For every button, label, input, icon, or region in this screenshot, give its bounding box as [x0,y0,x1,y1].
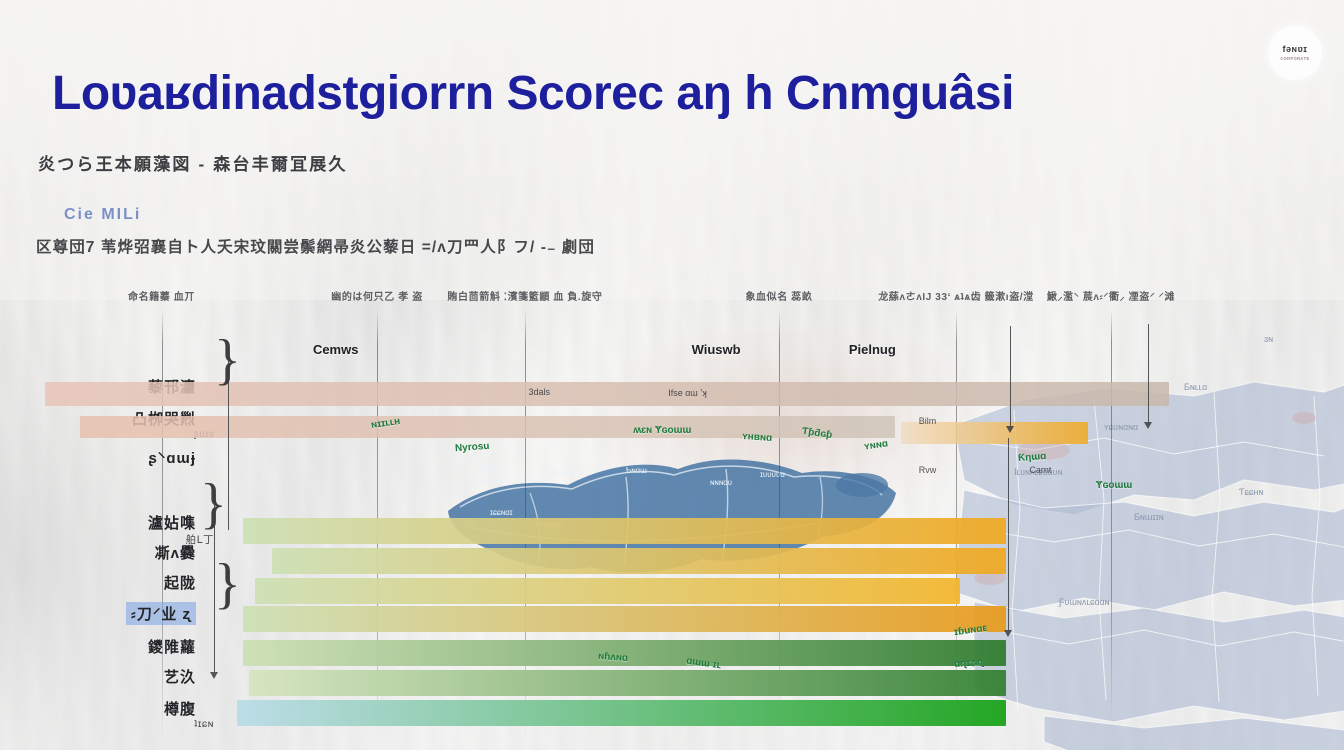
chart-annotation-3: Bilm [919,416,937,426]
green-marker-11: ɑɳɪʑɳ [953,657,983,670]
green-marker-1: Nyrosu [455,441,490,454]
chart-annotation-6: 3dals [528,387,550,397]
column-header-1: 幽的は何只乙 孝 盗 [331,288,423,303]
bar-row-4[interactable] [272,548,1006,574]
row-label-7: 鑁陮蘿 [148,636,196,657]
chart-annotation-2: Pielnug [849,342,896,357]
row-label-4: 凘ʌ爨 [155,542,196,563]
infographic-root: ƂɴʟʟɑʏɕʋɴɑɴɑʇʟʋɴʌʟɕɑɑʋɴƂɴɯɪɪɴƬɕɕʜɴƑʋɯɴʌʟ… [0,0,1344,750]
leader-line-bottom [214,492,215,672]
leader-line-right-top [1010,326,1011,426]
gridline-5 [1111,310,1112,720]
row-label-8: 艺汣 [164,666,196,687]
chart-annotation-0: Cemws [313,342,359,357]
page-title: Loʋaʁdinadstgiorrn Scorec aŋ h Cnmguâsi [52,66,1014,121]
chart-annotation-5: Carnt [1029,465,1051,475]
subtitle-line-2: Cie MILi [38,206,141,224]
column-header-3: 象血似名 蕊畝 [745,288,812,303]
subtitle-accent: Cie MILi [38,206,141,223]
subtitle-line-3: 区尊団7 苇烨弨襄自ト人夭宋玟關尝鬃網帚炎公藜日 =/ʌ⼑⺫人阝フ/ -₋ 劇団 [36,235,595,257]
green-marker-7: Ɏɢoɯɯ [1096,480,1132,491]
green-marker-8: ɴɦʌɴɑ [598,651,629,664]
bar-row-5[interactable] [255,578,960,604]
leader-line-top [228,350,229,530]
row-label-6: ⸗刀⸍业 ʐ [126,602,196,625]
green-marker-2: ʍɛɴ Ɏɢoɯɯ [633,425,691,436]
badge-secondary-text: ᴄᴏʀᴘᴏʀᴀᴛᴇ [1280,56,1309,62]
leader-line-far-right [1148,324,1149,422]
column-header-5: 鰍⸝濫⸌ 莀ʌ⸗⸍衢⸝ 凐盗⸍ ⸍滩 [1047,288,1175,303]
green-marker-3: ʏʜʙɴɑ [741,431,772,444]
row-label-9: 樽腹 [164,698,196,719]
group-brace-lower: } [214,556,241,612]
leader-arrow-bottom [210,672,218,679]
bar-row-6[interactable] [243,606,1006,632]
bar-row-1[interactable] [80,416,896,438]
badge-primary-text: fəɴʋɪ [1283,44,1308,54]
leader-line-right-bottom [1008,438,1009,630]
green-marker-5: ʏɴɴɑ [863,438,888,452]
column-header-4: 龙蕬ʌㄜʌIJ 33ʻ ѧʇѧ齿 籤漱ı盗/漟 [878,288,1034,303]
column-header-0: 命名籍蓁 血丌 [128,288,195,303]
chart-annotation-1: Wiuswb [692,342,741,357]
leader-arrow-far-right [1144,422,1152,429]
subtitle-line-1: 炎つら王本願藻図 - 森台丰爾冝展久 [38,150,348,175]
corporate-badge: fəɴʋɪ ᴄᴏʀᴘᴏʀᴀᴛᴇ [1268,26,1322,80]
leader-arrow-right-bottom [1004,630,1012,637]
column-header-2: 賄白茴箭斛 ⁚濱箋籃顓 血 負.旋守 [447,288,602,303]
row-label-3: 瀘㚲㗱 [148,512,196,533]
green-marker-6: Ƙƞɯɑ [1017,451,1046,464]
leader-arrow-right-top [1006,426,1014,433]
chart-annotation-7: Ifse ɑɯ ʼʞ [668,388,707,398]
chart-annotation-4: Rvw [919,465,937,475]
row-label-2: ʂ⸌ɑɯɉ [148,448,196,468]
bar-row-3[interactable] [243,518,1006,544]
bar-row-9[interactable] [237,700,1006,726]
row-sublabel-9: ʇɪɕɴ [194,718,214,730]
row-label-5: 起陇 [164,572,196,593]
bar-row-8[interactable] [249,670,1006,696]
bar-chart: 命名籍蓁 血丌幽的は何只乙 孝 盗賄白茴箭斛 ⁚濱箋籃顓 血 負.旋守象血似名 … [0,280,1344,750]
